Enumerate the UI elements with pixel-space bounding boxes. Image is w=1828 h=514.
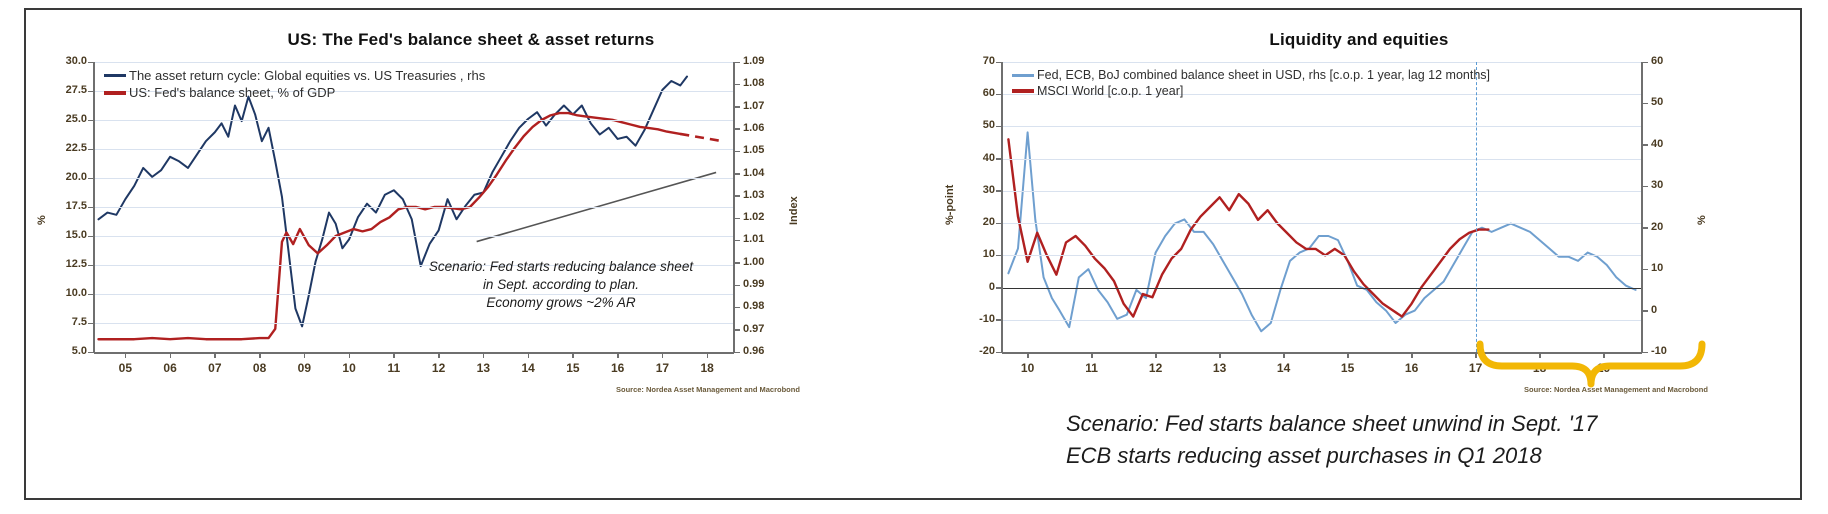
figure-frame: US: The Fed's balance sheet & asset retu… xyxy=(24,8,1802,500)
right-axis-tick-label: 1.06 xyxy=(743,122,783,134)
right-axis-line xyxy=(1641,62,1643,352)
right-source-note: Source: Nordea Asset Management and Macr… xyxy=(1524,385,1708,394)
gridline xyxy=(94,207,734,208)
right-axis-tick-label: 0.98 xyxy=(743,300,783,312)
left-axis-tick xyxy=(88,352,94,354)
left-axis-tick xyxy=(88,236,94,238)
legend-label-combined-balance-sheet: Fed, ECB, BoJ combined balance sheet in … xyxy=(1037,68,1490,82)
yellow-brace-marker xyxy=(1476,340,1706,390)
right-axis-tick xyxy=(734,240,740,242)
x-axis-tick xyxy=(170,352,172,358)
right-plot-area xyxy=(1002,62,1642,352)
right-chart-panel: Liquidity and equities -20-1001020304050… xyxy=(916,10,1802,502)
gridline xyxy=(94,62,734,63)
left-axis-tick xyxy=(88,149,94,151)
left-axis-tick-label: 17.5 xyxy=(42,200,87,212)
x-axis-tick-label: 13 xyxy=(1200,361,1240,375)
right-series-svg xyxy=(1002,62,1642,352)
right-axis-tick-label: 40 xyxy=(1651,138,1691,150)
right-axis-tick-label: 1.00 xyxy=(743,256,783,268)
legend-label-asset-return-cycle: The asset return cycle: Global equities … xyxy=(129,68,485,83)
left-axis-tick xyxy=(88,207,94,209)
left-axis-tick-label: 5.0 xyxy=(42,345,87,357)
legend-swatch-asset-return-cycle xyxy=(104,74,126,77)
x-axis-tick-label: 14 xyxy=(1264,361,1304,375)
right-axis-tick xyxy=(734,128,740,130)
left-axis-tick-label: 7.5 xyxy=(42,316,87,328)
left-axis-tick xyxy=(996,352,1002,354)
x-axis-tick-label: 18 xyxy=(687,361,727,375)
left-axis-tick xyxy=(996,255,1002,257)
gridline xyxy=(94,236,734,237)
right-axis-tick xyxy=(734,285,740,287)
bottom-axis-line xyxy=(94,352,734,354)
left-axis-tick-label: 20.0 xyxy=(42,171,87,183)
right-axis-tick xyxy=(734,329,740,331)
legend-swatch-combined-balance-sheet xyxy=(1012,74,1034,77)
x-axis-tick xyxy=(214,352,216,358)
right-axis-tick-label: 0.99 xyxy=(743,278,783,290)
x-axis-tick xyxy=(572,352,574,358)
right-axis-tick xyxy=(734,195,740,197)
left-axis-tick xyxy=(996,190,1002,192)
legend-swatch-msci-world xyxy=(1012,89,1034,93)
legend-item: Fed, ECB, BoJ combined balance sheet in … xyxy=(1012,68,1490,82)
gridline xyxy=(94,149,734,150)
zero-baseline xyxy=(1002,288,1642,290)
x-axis-tick-label: 12 xyxy=(1136,361,1176,375)
x-axis-tick xyxy=(662,352,664,358)
left-axis-tick-label: 10.0 xyxy=(42,287,87,299)
left-axis-tick-label: 10 xyxy=(950,248,995,260)
left-axis-tick-label: 15.0 xyxy=(42,229,87,241)
left-axis-tick-label: 70 xyxy=(950,55,995,67)
right-axis-tick xyxy=(734,84,740,86)
left-chart-title: US: The Fed's balance sheet & asset retu… xyxy=(26,30,916,50)
legend-label-fed-balance-sheet: US: Fed's balance sheet, % of GDP xyxy=(129,85,335,100)
left-axis-tick xyxy=(88,62,94,64)
left-legend: The asset return cycle: Global equities … xyxy=(104,68,485,102)
x-axis-tick xyxy=(483,352,485,358)
x-axis-tick xyxy=(528,352,530,358)
x-axis-tick xyxy=(707,352,709,358)
left-axis-tick xyxy=(996,319,1002,321)
left-axis-tick xyxy=(996,287,1002,289)
x-axis-tick xyxy=(1091,352,1093,358)
x-axis-tick-label: 14 xyxy=(508,361,548,375)
right-axis-tick xyxy=(734,173,740,175)
right-axis-tick xyxy=(734,62,740,64)
x-axis-tick-label: 10 xyxy=(329,361,369,375)
x-axis-tick-label: 17 xyxy=(642,361,682,375)
legend-item: MSCI World [c.o.p. 1 year] xyxy=(1012,84,1490,98)
x-axis-tick-label: 06 xyxy=(150,361,190,375)
right-axis-tick xyxy=(1642,310,1648,312)
gridline xyxy=(1002,223,1642,224)
right-axis-tick-label: 10 xyxy=(1651,262,1691,274)
x-axis-tick xyxy=(1219,352,1221,358)
gridline xyxy=(1002,255,1642,256)
left-axis-tick xyxy=(996,62,1002,64)
right-axis-tick-label: 1.03 xyxy=(743,189,783,201)
legend-item: The asset return cycle: Global equities … xyxy=(104,68,485,83)
y-axis-name: % xyxy=(36,215,48,225)
gridline xyxy=(1002,126,1642,127)
right-axis-tick xyxy=(1642,269,1648,271)
legend-swatch-fed-balance-sheet xyxy=(104,91,126,95)
left-axis-tick xyxy=(88,265,94,267)
left-axis-tick-label: -10 xyxy=(950,313,995,325)
right-scenario-caption: Scenario: Fed starts balance sheet unwin… xyxy=(1066,408,1597,472)
series-dashed-forecast xyxy=(680,134,720,141)
left-axis-tick xyxy=(88,91,94,93)
x-axis-tick-label: 10 xyxy=(1008,361,1048,375)
x-axis-tick xyxy=(349,352,351,358)
right-axis-tick-label: 1.05 xyxy=(743,144,783,156)
left-axis-tick-label: 50 xyxy=(950,119,995,131)
gridline xyxy=(94,178,734,179)
left-axis-tick-label: 20 xyxy=(950,216,995,228)
left-axis-tick-label: 60 xyxy=(950,87,995,99)
x-axis-tick xyxy=(1347,352,1349,358)
x-axis-tick-label: 13 xyxy=(463,361,503,375)
gridline xyxy=(94,323,734,324)
x-axis-tick-label: 12 xyxy=(419,361,459,375)
x-axis-tick-label: 09 xyxy=(284,361,324,375)
right-axis-tick-label: 0.97 xyxy=(743,323,783,335)
left-axis-tick-label: 12.5 xyxy=(42,258,87,270)
left-axis-tick xyxy=(88,323,94,325)
right-axis-tick-label: 1.09 xyxy=(743,55,783,67)
right-axis-tick xyxy=(1642,103,1648,105)
right-axis-tick xyxy=(1642,62,1648,64)
brace-path xyxy=(1480,344,1702,384)
right-axis-tick-label: 1.08 xyxy=(743,77,783,89)
left-axis-tick-label: 25.0 xyxy=(42,113,87,125)
right-axis-tick-label: 30 xyxy=(1651,179,1691,191)
x-axis-tick xyxy=(304,352,306,358)
left-axis-tick xyxy=(88,178,94,180)
right-axis-tick-label: 60 xyxy=(1651,55,1691,67)
x-axis-tick xyxy=(1283,352,1285,358)
gridline xyxy=(1002,320,1642,321)
left-chart-panel: US: The Fed's balance sheet & asset retu… xyxy=(26,10,916,502)
left-axis-tick-label: 30 xyxy=(950,184,995,196)
left-scenario-annotation: Scenario: Fed starts reducing balance sh… xyxy=(426,258,696,313)
x-axis-tick xyxy=(259,352,261,358)
x-axis-tick xyxy=(1155,352,1157,358)
right-legend: Fed, ECB, BoJ combined balance sheet in … xyxy=(1012,68,1490,100)
x-axis-tick-label: 15 xyxy=(553,361,593,375)
left-axis-tick xyxy=(88,120,94,122)
y2-axis-name: % xyxy=(1696,215,1708,225)
y2-axis-name: Index xyxy=(788,196,800,225)
right-axis-tick xyxy=(1642,144,1648,146)
left-axis-tick-label: -20 xyxy=(950,345,995,357)
figure-root: US: The Fed's balance sheet & asset retu… xyxy=(0,0,1828,514)
x-axis-tick xyxy=(1411,352,1413,358)
x-axis-tick-label: 16 xyxy=(598,361,638,375)
right-axis-tick-label: 1.07 xyxy=(743,100,783,112)
x-axis-tick-label: 07 xyxy=(195,361,235,375)
right-axis-tick xyxy=(734,352,740,354)
left-axis-tick xyxy=(996,223,1002,225)
left-axis-tick-label: 27.5 xyxy=(42,84,87,96)
left-axis-line xyxy=(1001,62,1003,352)
right-axis-tick xyxy=(734,218,740,220)
left-axis-tick-label: 30.0 xyxy=(42,55,87,67)
legend-label-msci-world: MSCI World [c.o.p. 1 year] xyxy=(1037,84,1183,98)
right-axis-tick-label: 1.02 xyxy=(743,211,783,223)
x-axis-tick-label: 16 xyxy=(1392,361,1432,375)
x-axis-tick-label: 05 xyxy=(105,361,145,375)
x-axis-tick xyxy=(125,352,127,358)
right-chart-title: Liquidity and equities xyxy=(916,30,1802,50)
left-axis-tick-label: 0 xyxy=(950,281,995,293)
vertical-marker-line xyxy=(1476,62,1477,352)
right-axis-tick xyxy=(1642,186,1648,188)
x-axis-tick-label: 11 xyxy=(1072,361,1112,375)
gridline xyxy=(1002,191,1642,192)
x-axis-tick xyxy=(393,352,395,358)
right-axis-tick-label: 0.96 xyxy=(743,345,783,357)
left-axis-tick-label: 22.5 xyxy=(42,142,87,154)
gridline xyxy=(1002,159,1642,160)
x-axis-tick-label: 08 xyxy=(240,361,280,375)
right-axis-tick xyxy=(734,106,740,108)
gridline xyxy=(94,120,734,121)
left-axis-tick xyxy=(996,94,1002,96)
y-axis-name: %-point xyxy=(944,185,956,225)
legend-item: US: Fed's balance sheet, % of GDP xyxy=(104,85,485,100)
x-axis-tick xyxy=(617,352,619,358)
x-axis-tick-label: 11 xyxy=(374,361,414,375)
series-line-1 xyxy=(1008,132,1635,331)
right-axis-tick xyxy=(1642,227,1648,229)
left-axis-tick xyxy=(88,294,94,296)
right-axis-tick-label: 50 xyxy=(1651,96,1691,108)
x-axis-tick-label: 15 xyxy=(1328,361,1368,375)
left-axis-tick-label: 40 xyxy=(950,152,995,164)
right-axis-tick-label: 20 xyxy=(1651,221,1691,233)
left-axis-tick xyxy=(996,158,1002,160)
right-axis-tick-label: 0 xyxy=(1651,304,1691,316)
x-axis-tick xyxy=(438,352,440,358)
left-source-note: Source: Nordea Asset Management and Macr… xyxy=(616,385,800,394)
gridline xyxy=(1002,62,1642,63)
right-axis-tick-label: 1.01 xyxy=(743,233,783,245)
right-axis-tick-label: 1.04 xyxy=(743,167,783,179)
right-axis-tick xyxy=(734,262,740,264)
left-axis-tick xyxy=(996,126,1002,128)
right-axis-tick xyxy=(734,151,740,153)
x-axis-tick xyxy=(1027,352,1029,358)
series-line-2 xyxy=(1008,139,1488,316)
right-axis-tick xyxy=(734,307,740,309)
